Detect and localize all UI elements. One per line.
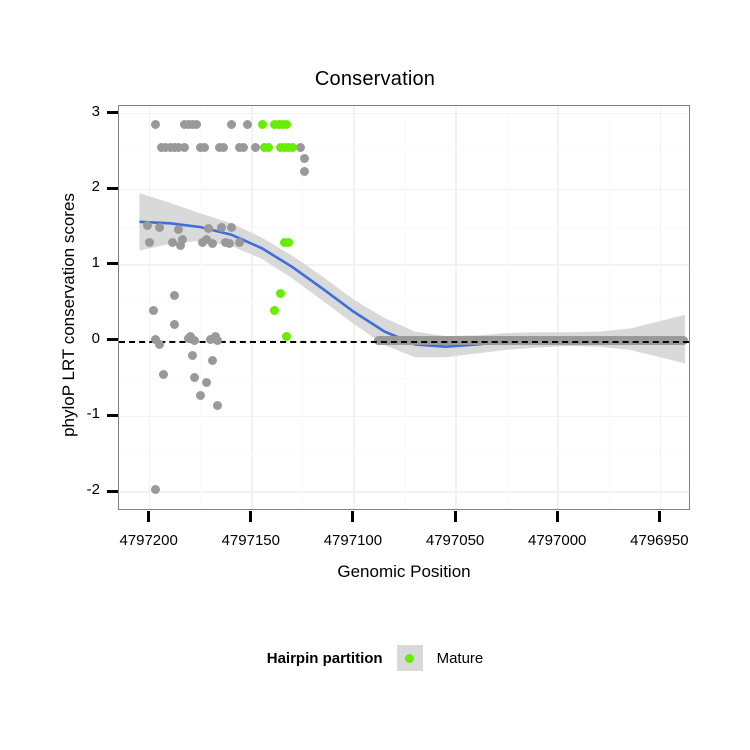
data-point xyxy=(219,143,228,152)
plot-panel xyxy=(118,105,690,510)
data-point xyxy=(284,238,293,247)
data-point xyxy=(170,320,179,329)
data-point xyxy=(258,120,267,129)
data-point xyxy=(270,306,279,315)
data-point xyxy=(196,391,205,400)
data-point xyxy=(235,238,244,247)
y-tick xyxy=(107,187,118,190)
y-tick-label: 3 xyxy=(60,103,100,120)
x-tick xyxy=(658,511,661,522)
chart-title: Conservation xyxy=(0,68,750,91)
x-axis-label: Genomic Position xyxy=(118,562,690,582)
zero-reference-line xyxy=(119,341,689,343)
x-tick xyxy=(454,511,457,522)
legend-label-mature: Mature xyxy=(437,650,484,667)
y-tick xyxy=(107,338,118,341)
chart-root: Conservation phyloP LRT conservation sco… xyxy=(0,0,750,750)
data-point xyxy=(264,143,273,152)
y-tick xyxy=(107,490,118,493)
data-point xyxy=(213,336,222,345)
y-tick-label: -1 xyxy=(60,405,100,422)
x-tick-label: 4796950 xyxy=(599,532,719,549)
y-tick xyxy=(107,111,118,114)
x-tick xyxy=(147,511,150,522)
data-point xyxy=(227,223,236,232)
data-point xyxy=(170,291,179,300)
x-tick xyxy=(249,511,252,522)
loess-smooth-overlay xyxy=(119,106,690,510)
y-tick-label: 0 xyxy=(60,330,100,347)
legend-title: Hairpin partition xyxy=(267,650,383,667)
y-tick xyxy=(107,414,118,417)
y-axis-label: phyloP LRT conservation scores xyxy=(59,115,79,515)
data-point xyxy=(180,143,189,152)
legend-key-mature[interactable] xyxy=(397,645,423,671)
data-point xyxy=(155,223,164,232)
legend-dot-icon xyxy=(405,654,414,663)
y-tick-label: -2 xyxy=(60,481,100,498)
data-point xyxy=(213,401,222,410)
data-point xyxy=(190,373,199,382)
data-point xyxy=(217,223,226,232)
data-point xyxy=(174,225,183,234)
x-tick xyxy=(351,511,354,522)
y-tick xyxy=(107,262,118,265)
data-point xyxy=(145,238,154,247)
y-tick-label: 2 xyxy=(60,178,100,195)
y-tick-label: 1 xyxy=(60,254,100,271)
legend: Hairpin partition Mature xyxy=(0,645,750,671)
x-tick xyxy=(556,511,559,522)
